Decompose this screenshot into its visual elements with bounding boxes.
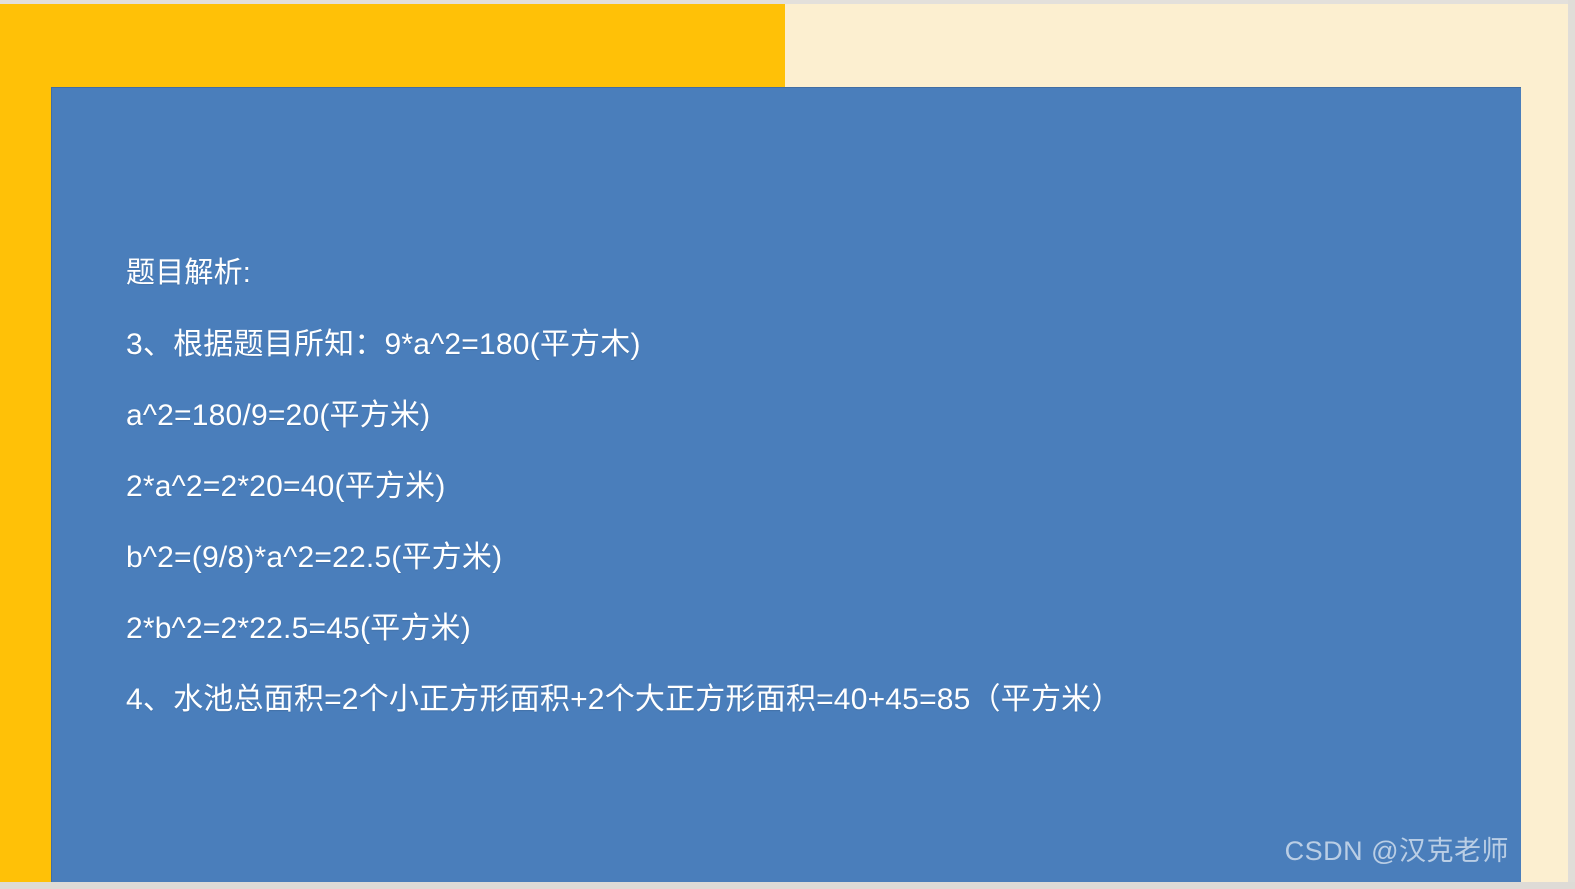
solution-line-1: 3、根据题目所知：9*a^2=180(平方木)	[126, 309, 1122, 380]
right-edge-strip	[1568, 0, 1575, 889]
solution-line-5: 2*b^2=2*22.5=45(平方米)	[126, 593, 1122, 664]
bottom-edge-strip	[0, 882, 1575, 889]
blue-content-panel: 题目解析: 3、根据题目所知：9*a^2=180(平方木) a^2=180/9=…	[51, 87, 1521, 882]
solution-line-6-total-area: 4、水池总面积=2个小正方形面积+2个大正方形面积=40+45=85（平方米）	[126, 664, 1122, 735]
solution-heading: 题目解析:	[126, 238, 1122, 309]
solution-line-2: a^2=180/9=20(平方米)	[126, 380, 1122, 451]
solution-line-3: 2*a^2=2*20=40(平方米)	[126, 451, 1122, 522]
solution-line-4: b^2=(9/8)*a^2=22.5(平方米)	[126, 522, 1122, 593]
slide-screenshot: 题目解析: 3、根据题目所知：9*a^2=180(平方木) a^2=180/9=…	[0, 0, 1575, 889]
orange-accent-band	[0, 4, 785, 88]
csdn-watermark: CSDN @汉克老师	[1285, 829, 1509, 868]
orange-accent-column	[0, 4, 52, 882]
solution-text-block: 题目解析: 3、根据题目所知：9*a^2=180(平方木) a^2=180/9=…	[126, 238, 1122, 735]
